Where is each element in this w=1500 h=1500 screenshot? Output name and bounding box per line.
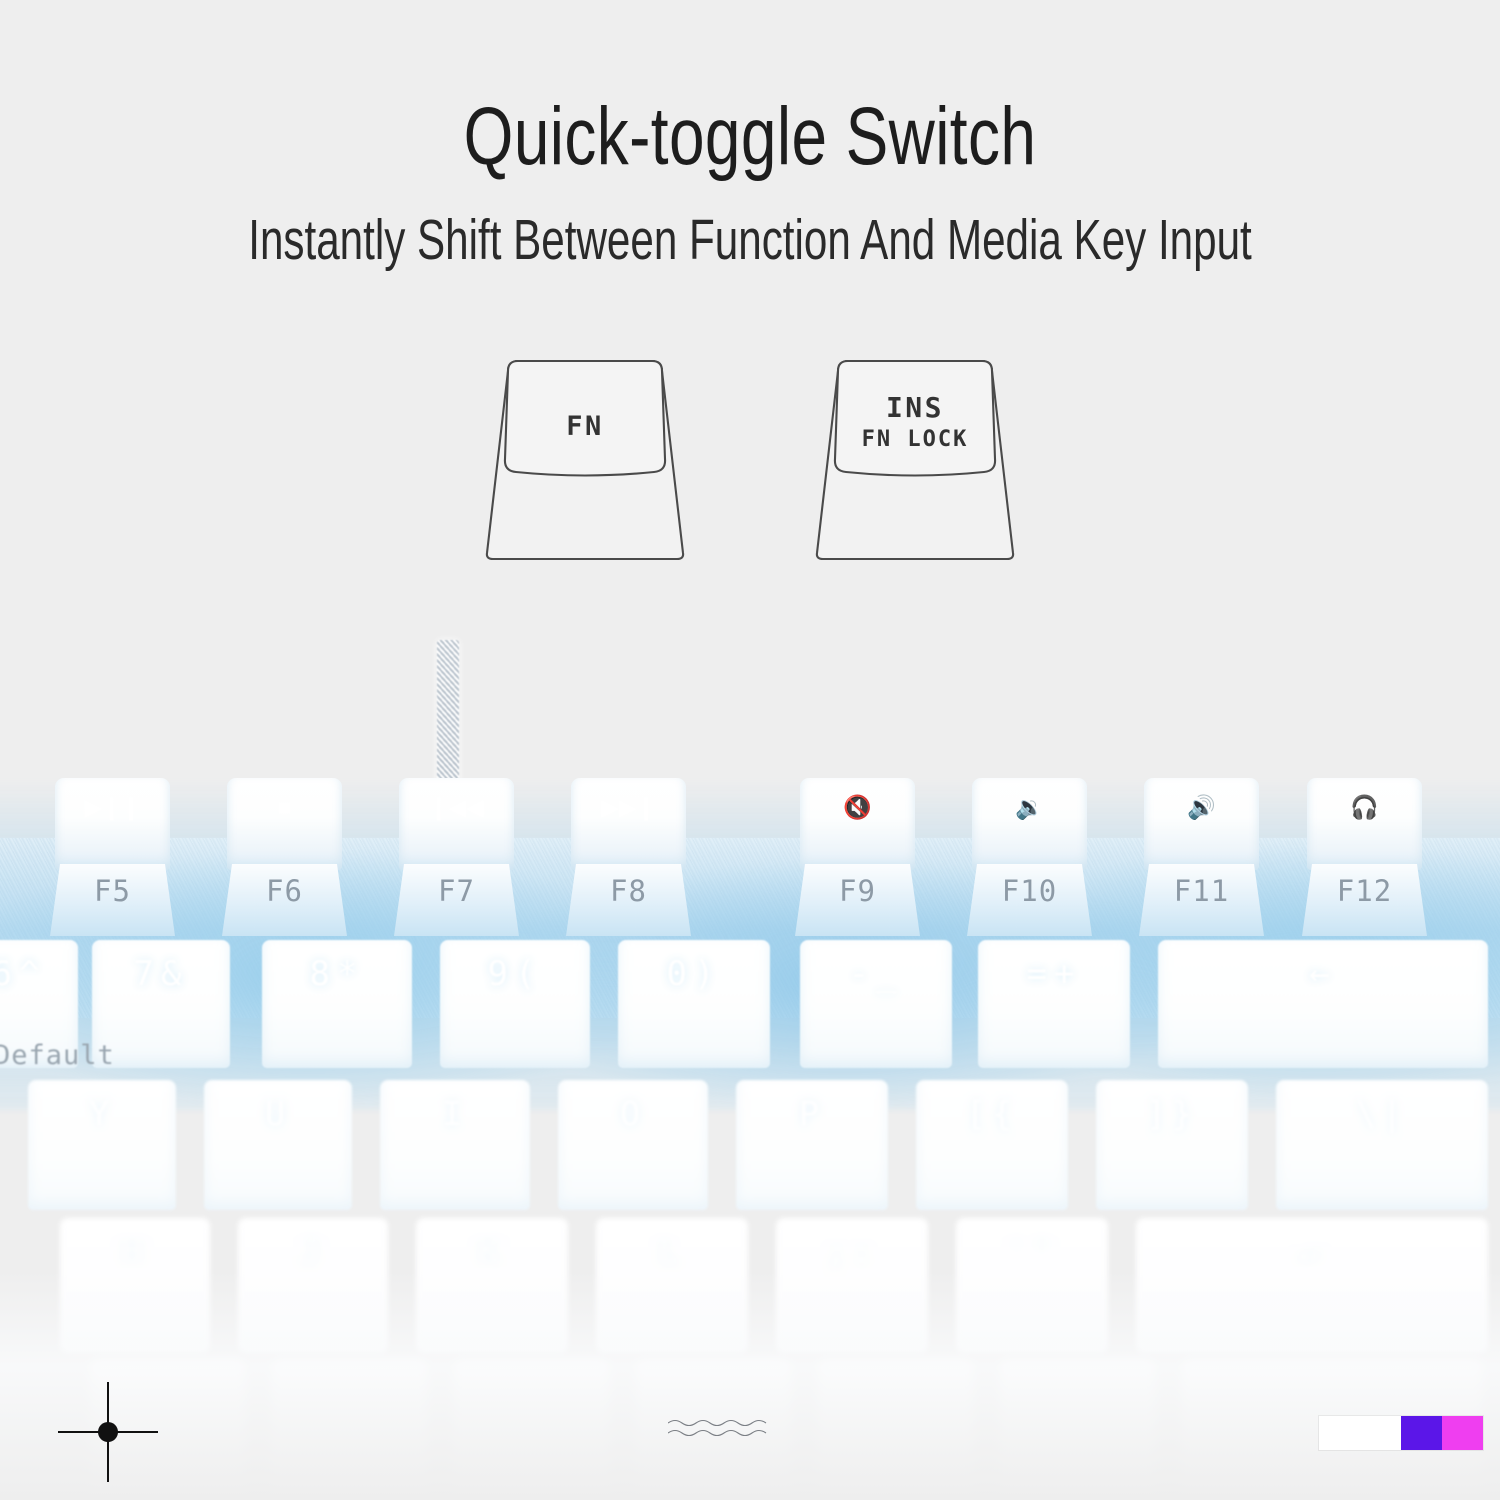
key-7-label: 7&: [92, 954, 230, 994]
keycap-fn-outline: [480, 355, 690, 565]
key-u-label: U: [204, 1094, 352, 1133]
key-f12: 🎧 F12: [1302, 778, 1427, 936]
key-f12-label: F12: [1302, 874, 1427, 908]
key-f5-label: F5: [50, 874, 175, 908]
key-bracket-left: [{: [916, 1080, 1068, 1210]
key-y-label: Y: [28, 1094, 176, 1133]
key-quote-label: '": [956, 1232, 1108, 1270]
key-bracket-left-label: [{: [916, 1094, 1068, 1133]
color-swatch-magenta: [1442, 1416, 1483, 1450]
key-k-label: K: [416, 1232, 568, 1270]
key-p-label: P: [736, 1094, 888, 1133]
registration-mark-icon: [58, 1382, 158, 1482]
keycap-fn-label: FN: [480, 411, 690, 442]
key-semicolon-label: ;:: [776, 1232, 928, 1270]
key-backspace-label: ←: [1158, 954, 1488, 994]
bottom-key: [818, 1360, 973, 1500]
key-9-label: 9(: [440, 954, 590, 994]
resolution-test-pattern: [668, 1415, 778, 1441]
key-f9-label: F9: [795, 874, 920, 908]
key-equals-label: =+: [978, 954, 1130, 994]
key-y: Y: [28, 1080, 176, 1210]
key-f7: ❙◀◀ F7: [394, 778, 519, 936]
key-f11: 🔊 F11: [1139, 778, 1264, 936]
key-backslash: \|: [1276, 1080, 1488, 1210]
key-l: L: [596, 1218, 748, 1353]
keyboard-photo: ▶❙❙ F5 ■ F6 ❙◀◀ F7 ▶▶❙ F8 🔇 F9 🔉 F10 🔊 F…: [0, 600, 1500, 1500]
key-o: O: [558, 1080, 708, 1210]
key-l-label: L: [596, 1232, 748, 1270]
key-bracket-right: ]}: [1096, 1080, 1248, 1210]
key-equals: =+: [978, 940, 1130, 1068]
page-title: Quick-toggle Switch: [165, 96, 1335, 178]
key-f10: 🔉 F10: [967, 778, 1092, 936]
key-f6: ■ F6: [222, 778, 347, 936]
key-j-label: J: [238, 1232, 388, 1270]
key-h-label: H: [60, 1232, 210, 1270]
key-f8: ▶▶❙ F8: [566, 778, 691, 936]
color-swatch-white: [1319, 1416, 1401, 1450]
key-minus-label: -_: [800, 954, 952, 994]
key-o-label: O: [558, 1094, 708, 1133]
key-quote: '": [956, 1218, 1108, 1353]
key-f7-label: F7: [394, 874, 519, 908]
color-swatch-violet: [1401, 1416, 1442, 1450]
keycap-ins: INS FN LOCK: [810, 355, 1020, 565]
color-calibration-bar: [1318, 1415, 1484, 1451]
page-subtitle: Instantly Shift Between Function And Med…: [195, 212, 1305, 269]
bottom-key: [454, 1360, 609, 1500]
key-enter: ↵: [1136, 1218, 1488, 1353]
key-bracket-right-label: ]}: [1096, 1094, 1248, 1133]
key-i: I: [380, 1080, 530, 1210]
key-0: 0): [618, 940, 770, 1068]
bottom-key: [272, 1360, 427, 1500]
key-8-label: 8*: [262, 954, 412, 994]
key-9: 9(: [440, 940, 590, 1068]
key-h: H: [60, 1218, 210, 1353]
key-8: 8*: [262, 940, 412, 1068]
key-f11-label: F11: [1139, 874, 1264, 908]
key-i-label: I: [380, 1094, 530, 1133]
key-minus: -_: [800, 940, 952, 1068]
keycap-ins-outline: [810, 355, 1020, 565]
sublegend-default: Default: [0, 1040, 115, 1071]
bottom-key: [1000, 1360, 1155, 1500]
key-k: K: [416, 1218, 568, 1353]
key-f8-label: F8: [566, 874, 691, 908]
key-u: U: [204, 1080, 352, 1210]
keycap-fn: FN: [480, 355, 690, 565]
key-f10-label: F10: [967, 874, 1092, 908]
keycap-ins-sublabel: FN LOCK: [810, 427, 1020, 452]
key-f5: ▶❙❙ F5: [50, 778, 175, 936]
key-0-label: 0): [618, 954, 770, 994]
key-backspace: ←: [1158, 940, 1488, 1068]
key-j: J: [238, 1218, 388, 1353]
key-backslash-label: \|: [1276, 1094, 1488, 1133]
key-enter-label: ↵: [1136, 1232, 1488, 1270]
key-f9: 🔇 F9: [795, 778, 920, 936]
key-f6-label: F6: [222, 874, 347, 908]
keycap-ins-label: INS: [810, 391, 1020, 424]
shortcut-diagram: FN INS FN LOCK: [0, 355, 1500, 595]
key-p: P: [736, 1080, 888, 1210]
key-semicolon: ;:: [776, 1218, 928, 1353]
key-6-label: 6^: [0, 954, 78, 994]
